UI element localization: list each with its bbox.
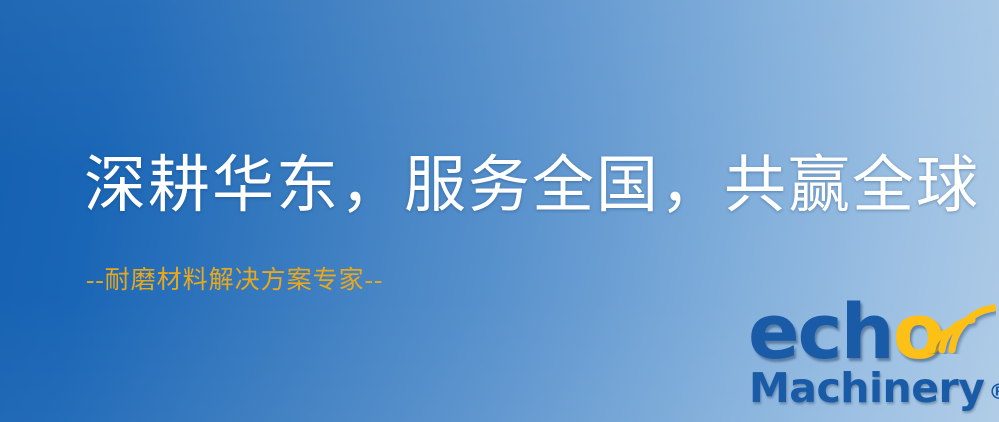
banner-headline: 深耕华东，服务全国，共赢全球: [84, 152, 980, 221]
logo-brand-text: ech: [748, 296, 893, 368]
signal-waves-icon: [926, 292, 996, 354]
logo-tagline-text: Machinery: [749, 368, 984, 409]
promotional-banner: 深耕华东，服务全国，共赢全球 --耐磨材料解决方案专家-- ech o: [0, 0, 999, 422]
logo-tagline: Machinery ®: [749, 368, 999, 409]
banner-subtitle: --耐磨材料解决方案专家--: [86, 266, 383, 296]
company-logo[interactable]: ech o Machinery ®: [748, 296, 994, 420]
registered-trademark-symbol: ®: [988, 382, 999, 403]
logo-wordmark: ech o: [748, 296, 943, 370]
